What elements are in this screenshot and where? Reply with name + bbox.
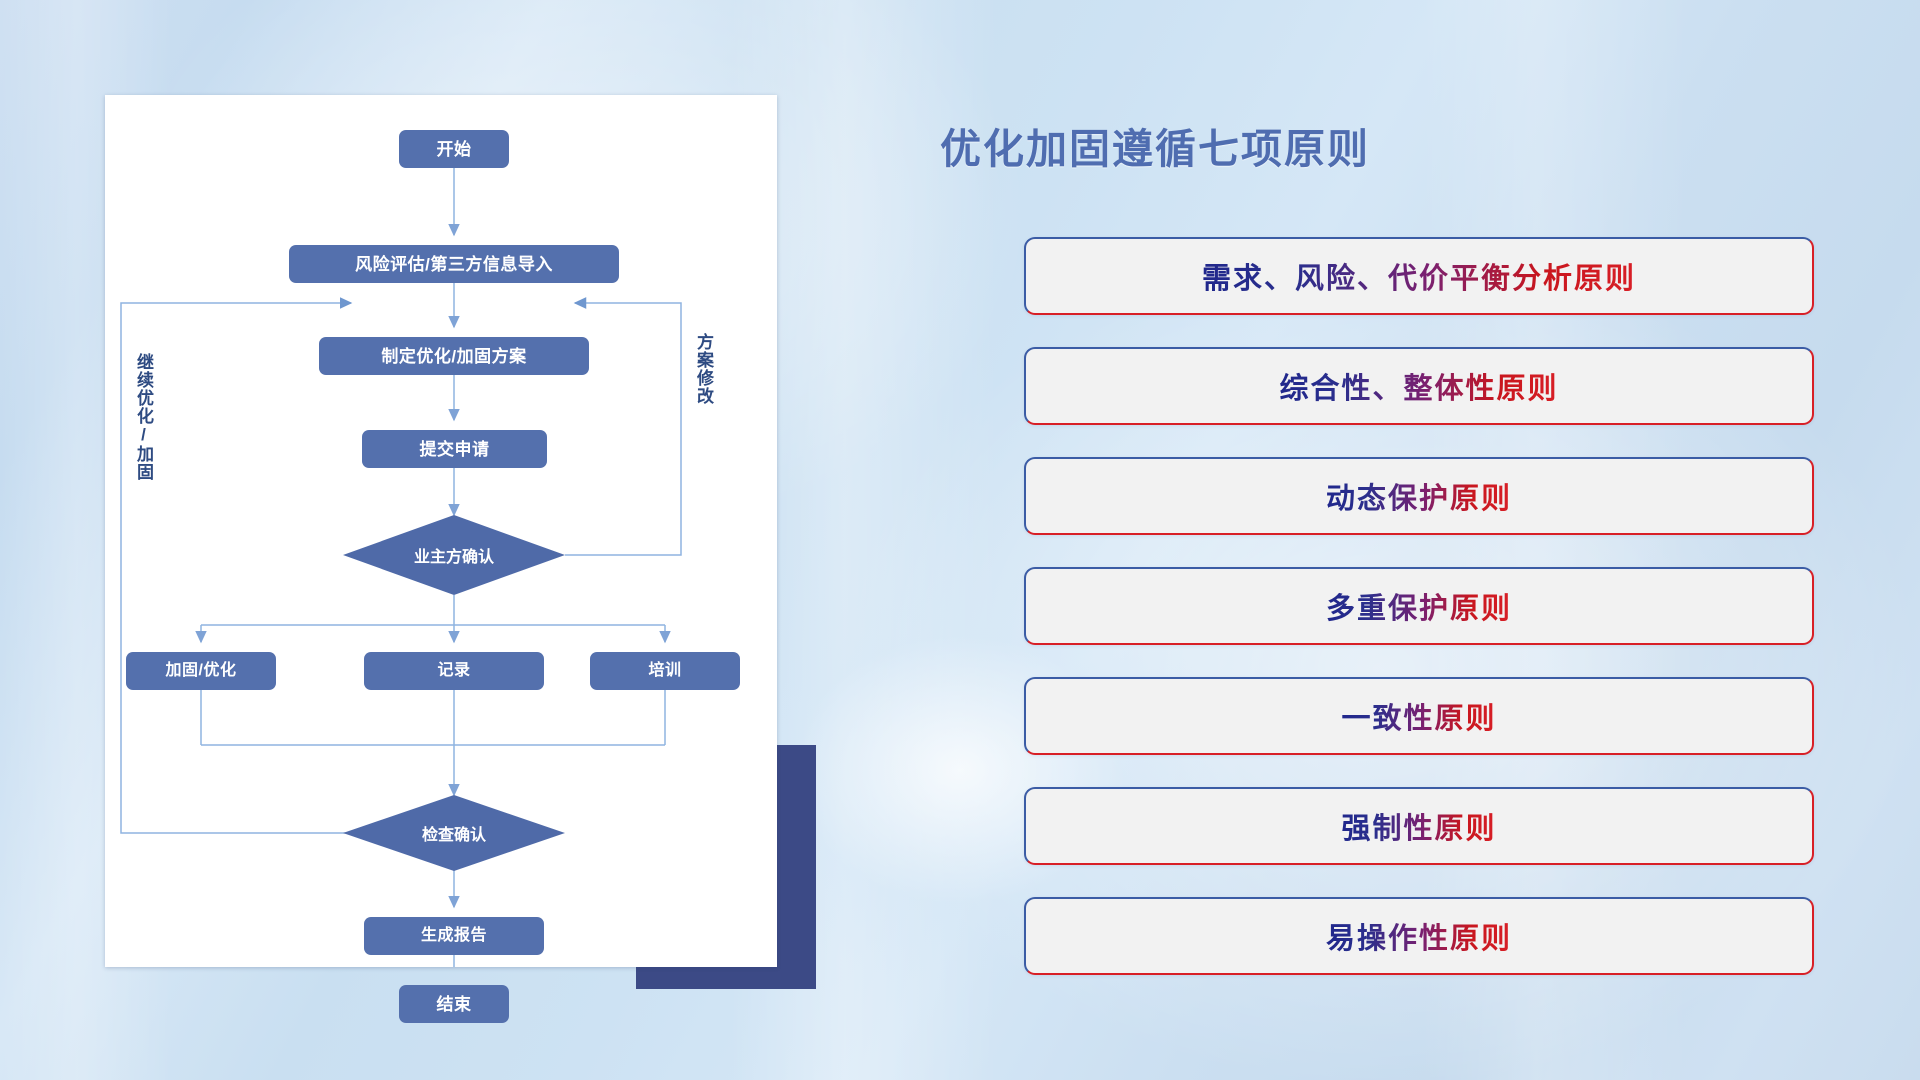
flow-node-submit[interactable]: 提交申请 (362, 430, 547, 468)
page-title: 优化加固遵循七项原则 (940, 115, 1370, 175)
principle-item-label: 动态保护原则 (1326, 475, 1512, 517)
flow-edge-label-plan-revision: 方案修改 (693, 333, 713, 405)
principle-item-label: 一致性原则 (1341, 695, 1496, 737)
decision-check-confirm-shape (343, 795, 565, 871)
principle-item[interactable]: 易操作性原则 (1024, 897, 1814, 975)
flow-node-risk-assessment-label: 风险评估/第三方信息导入 (355, 256, 553, 273)
flow-node-plan[interactable]: 制定优化/加固方案 (319, 337, 589, 375)
flow-node-reinforce-label: 加固/优化 (166, 663, 237, 679)
principle-item[interactable]: 需求、风险、代价平衡分析原则 (1024, 237, 1814, 315)
flow-node-training[interactable]: 培训 (590, 652, 740, 690)
flow-node-end-label: 结束 (437, 996, 472, 1013)
principle-item[interactable]: 一致性原则 (1024, 677, 1814, 755)
principle-item[interactable]: 动态保护原则 (1024, 457, 1814, 535)
flow-node-start[interactable]: 开始 (399, 130, 509, 168)
principle-item-label: 综合性、整体性原则 (1279, 365, 1558, 407)
flowchart-card: 开始 风险评估/第三方信息导入 制定优化/加固方案 提交申请 业主方确认 加固/… (105, 95, 777, 967)
principle-item[interactable]: 强制性原则 (1024, 787, 1814, 865)
flow-node-submit-label: 提交申请 (420, 441, 490, 458)
flow-node-risk-assessment[interactable]: 风险评估/第三方信息导入 (289, 245, 619, 283)
decision-owner-confirm-shape (343, 515, 565, 595)
principle-item[interactable]: 多重保护原则 (1024, 567, 1814, 645)
flow-node-record-label: 记录 (437, 663, 470, 679)
flow-node-start-label: 开始 (437, 141, 472, 158)
flow-node-report[interactable]: 生成报告 (364, 917, 544, 955)
flow-node-report-label: 生成报告 (421, 928, 487, 944)
principle-item-label: 需求、风险、代价平衡分析原则 (1202, 255, 1636, 297)
principle-item[interactable]: 综合性、整体性原则 (1024, 347, 1814, 425)
flowchart-connectors (105, 95, 777, 967)
flow-node-record[interactable]: 记录 (364, 652, 544, 690)
principle-item-label: 多重保护原则 (1326, 585, 1512, 627)
principles-list: 需求、风险、代价平衡分析原则 综合性、整体性原则 动态保护原则 多重保护原则 一… (1024, 237, 1814, 1007)
flow-node-plan-label: 制定优化/加固方案 (381, 348, 526, 365)
flow-edge-label-continue-optimize: 继续优化/加固 (133, 353, 153, 481)
principle-item-label: 易操作性原则 (1326, 915, 1512, 957)
flow-node-training-label: 培训 (648, 663, 681, 679)
flow-node-reinforce[interactable]: 加固/优化 (126, 652, 276, 690)
principle-item-label: 强制性原则 (1341, 805, 1496, 847)
flow-node-end[interactable]: 结束 (399, 985, 509, 1023)
